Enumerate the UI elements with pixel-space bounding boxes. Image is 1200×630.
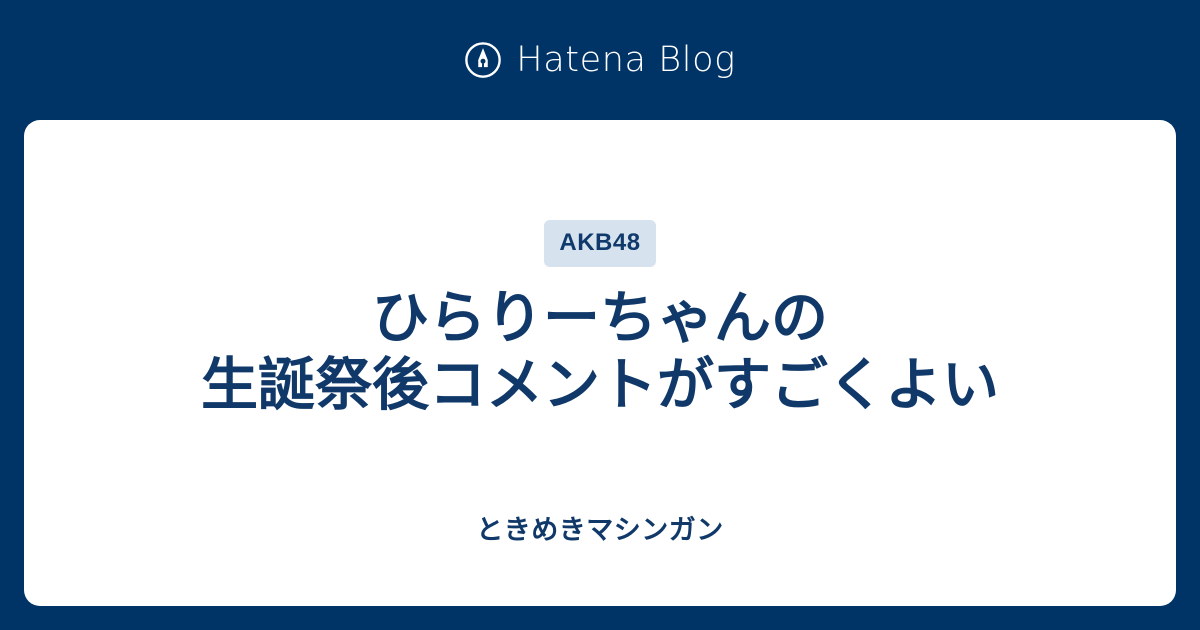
entry-title: ひらりーちゃんの 生誕祭後コメントがすごくよい bbox=[161, 285, 1039, 420]
entry-title-line-1: ひらりーちゃんの bbox=[201, 285, 999, 352]
brand-name: Hatena Blog bbox=[516, 43, 735, 78]
category-tag[interactable]: AKB48 bbox=[544, 220, 655, 267]
hatena-blog-ogp-card: Hatena Blog AKB48 ひらりーちゃんの 生誕祭後コメントがすごくよ… bbox=[0, 0, 1200, 630]
entry-title-line-2: 生誕祭後コメントがすごくよい bbox=[201, 352, 999, 419]
brand-header: Hatena Blog bbox=[0, 0, 1200, 120]
entry-content-card: AKB48 ひらりーちゃんの 生誕祭後コメントがすごくよい ときめきマシンガン bbox=[24, 120, 1176, 606]
pen-nib-circle-icon bbox=[464, 41, 502, 79]
blog-name[interactable]: ときめきマシンガン bbox=[24, 517, 1176, 544]
